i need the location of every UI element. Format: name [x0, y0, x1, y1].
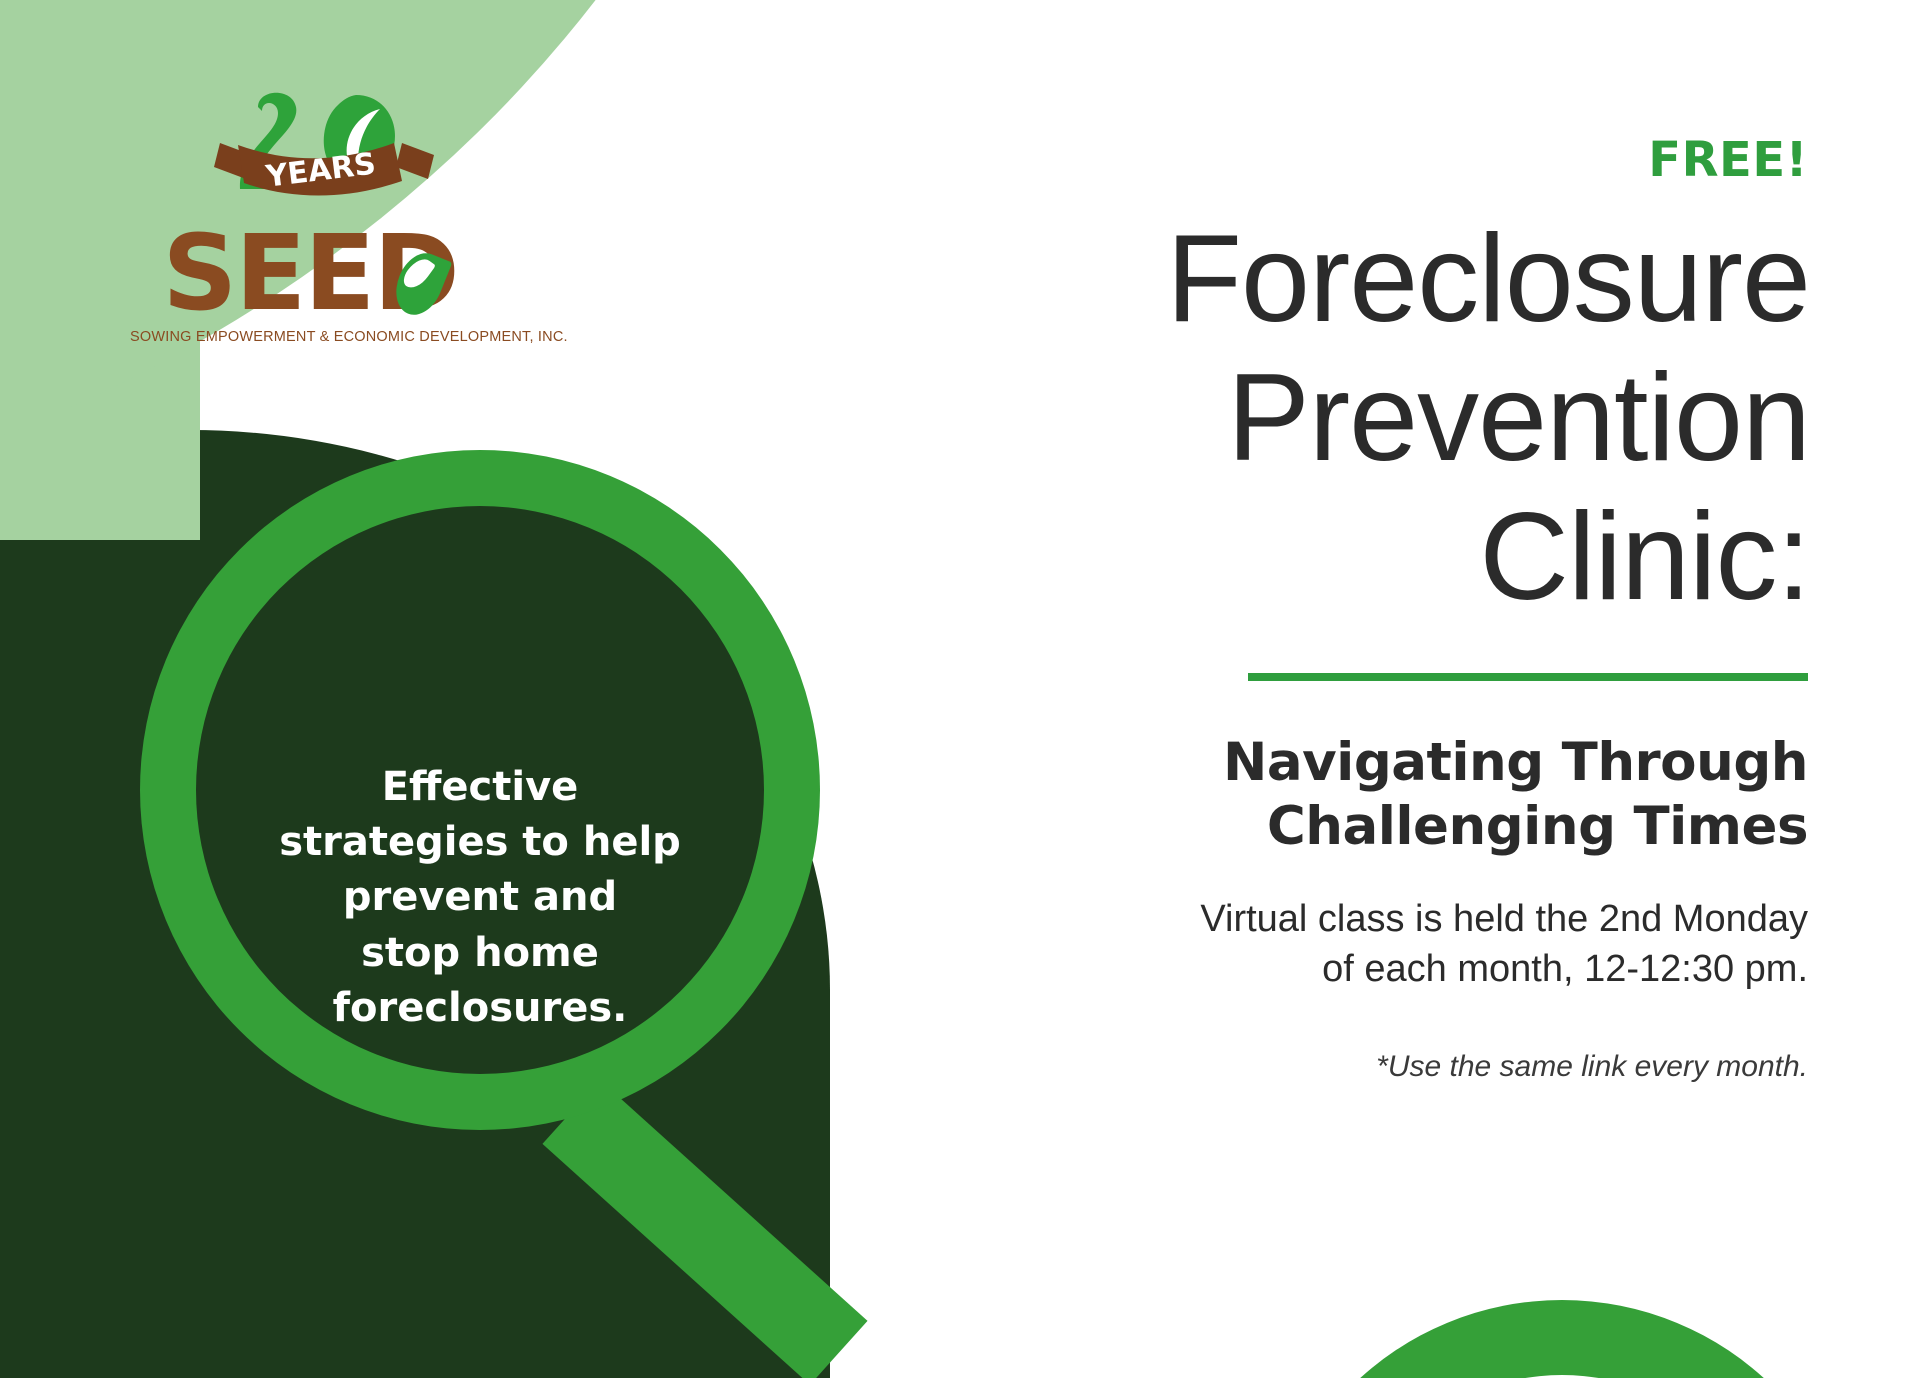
- page-subtitle: Navigating Through Challenging Times: [860, 731, 1808, 860]
- lens-message-line: foreclosures.: [230, 981, 730, 1036]
- lens-message: Effective strategies to help prevent and…: [230, 760, 730, 1036]
- page-title-line: Clinic:: [860, 488, 1810, 627]
- link-note: *Use the same link every month.: [860, 1050, 1808, 1084]
- page-subtitle-line: Navigating Through: [860, 731, 1808, 796]
- green-divider: [1248, 673, 1808, 681]
- lens-message-line: Effective: [230, 760, 730, 815]
- anniversary-badge: YEARS: [180, 85, 440, 220]
- lens-message-line: strategies to help: [230, 815, 730, 870]
- seed-logo: YEARS SEED SOWING EMPOWERMENT & ECONOMIC…: [130, 85, 490, 345]
- twenty-years-icon: YEARS: [180, 85, 440, 205]
- bottom-right-ring-shape: [1262, 1300, 1862, 1378]
- page-subtitle-line: Challenging Times: [860, 795, 1808, 860]
- page-title-line: Foreclosure: [860, 210, 1810, 349]
- page-title: Foreclosure Prevention Clinic:: [860, 210, 1810, 627]
- free-badge: FREE!: [860, 132, 1808, 188]
- right-content-column: FREE! Foreclosure Prevention Clinic: Nav…: [860, 0, 1820, 1084]
- lens-message-line: prevent and: [230, 870, 730, 925]
- schedule-line: Virtual class is held the 2nd Monday: [860, 894, 1808, 944]
- schedule-line: of each month, 12-12:30 pm.: [860, 944, 1808, 994]
- schedule-text: Virtual class is held the 2nd Monday of …: [860, 894, 1808, 994]
- page-title-line: Prevention: [860, 349, 1810, 488]
- lens-message-line: stop home: [230, 926, 730, 981]
- seed-wordmark: SEED: [162, 224, 457, 323]
- foreclosure-prevention-clinic-flyer: YEARS SEED SOWING EMPOWERMENT & ECONOMIC…: [0, 0, 1920, 1378]
